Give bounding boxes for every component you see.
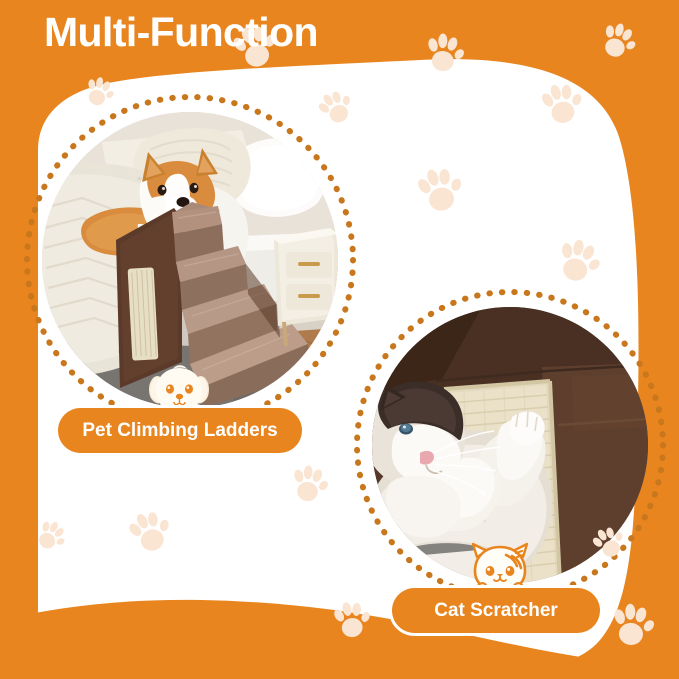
- badge-pet-climbing-ladders[interactable]: Pet Climbing Ladders: [58, 408, 302, 453]
- paw-print-icon: [608, 598, 657, 650]
- badge-label: Cat Scratcher: [434, 600, 558, 622]
- paw-print-icon: [421, 27, 467, 76]
- paw-print-icon: [287, 459, 332, 507]
- infographic-canvas: Multi-Function: [0, 0, 679, 679]
- badge-cat-scratcher[interactable]: Cat Scratcher: [392, 588, 600, 633]
- badge-label: Pet Climbing Ladders: [82, 420, 277, 442]
- page-title: Multi-Function: [44, 8, 318, 57]
